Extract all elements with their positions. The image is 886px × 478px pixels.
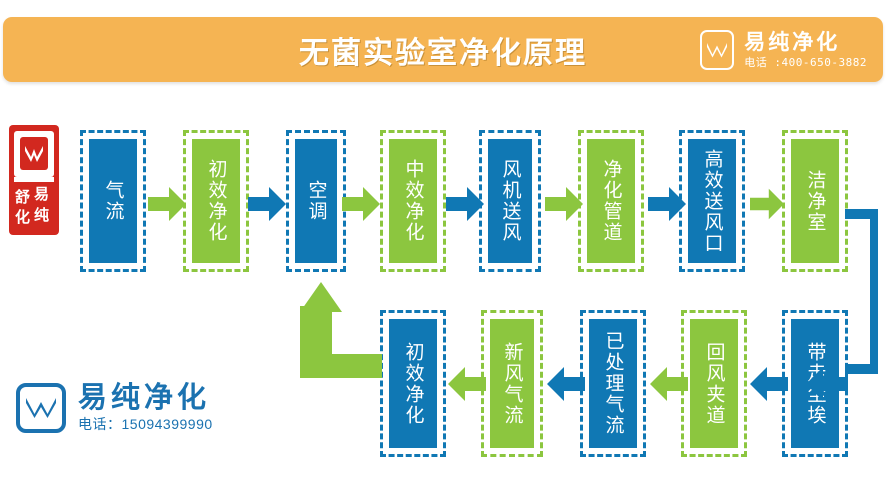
node-label: 空调 [305,180,328,222]
elbow-connector-chuxiaojinghua-to-kongtiao [300,282,382,392]
arrow-huifengjiadao-to-yichuliqiliu [650,367,688,401]
node-label: 净化管道 [600,159,623,243]
svg-text:舒: 舒 [15,188,30,206]
red-seal-stamp-icon: 舒 易 化 纯 [8,124,60,236]
flow-node-chuxiaojinghua-top[interactable]: 初效净化 [183,130,249,272]
elbow-connector-jiejingshi-to-daizouchenai [845,200,886,400]
node-label: 高效送风口 [701,149,724,254]
node-fill: 已处理气流 [589,319,637,448]
svg-text:化: 化 [15,208,30,226]
arrow-qiliu-to-chuxiaojinghua [148,187,186,221]
arrow-xinfengqiliu-to-chuxiaojinghua [448,367,486,401]
node-fill: 初效净化 [389,319,437,448]
node-fill: 中效净化 [389,139,437,263]
node-label: 中效净化 [402,159,425,243]
arrow-daizouchenai-to-huifengjiadao [750,367,788,401]
flow-node-fengjisongfeng[interactable]: 风机送风 [479,130,541,272]
yichun-w-logo-icon [700,30,734,70]
node-label: 初效净化 [205,159,228,243]
flow-node-kongtiao[interactable]: 空调 [286,130,346,272]
footer-brand-phone: 电话：15094399990 [78,415,213,434]
node-fill: 空调 [295,139,337,263]
arrow-gaoxiaosongfengkou-to-jiejingshi [750,187,784,221]
yichun-w-logo-icon [16,383,66,433]
svg-text:易: 易 [34,185,49,203]
flow-node-jinghuaguandao[interactable]: 净化管道 [578,130,644,272]
node-label: 新风气流 [501,342,524,426]
header-banner: 无菌实验室净化原理 易纯净化 电话 :400-650-3882 [3,17,883,82]
node-label: 初效净化 [402,342,425,426]
node-fill: 新风气流 [490,319,534,448]
flow-node-qiliu[interactable]: 气流 [80,130,146,272]
node-fill: 风机送风 [488,139,532,263]
flow-node-xinfengqiliu[interactable]: 新风气流 [481,310,543,457]
flow-node-zhongxiaojinghua[interactable]: 中效净化 [380,130,446,272]
arrow-kongtiao-to-zhongxiaojinghua [342,187,380,221]
flow-node-chuxiaojinghua-bottom[interactable]: 初效净化 [380,310,446,457]
node-fill: 净化管道 [587,139,635,263]
footer-brand-name: 易纯净化 [78,382,213,415]
footer-brand-logo: 易纯净化 电话：15094399990 [16,382,213,434]
arrow-yichuliqiliu-to-xinfengqiliu [547,367,585,401]
flow-node-gaoxiaosongfengkou[interactable]: 高效送风口 [679,130,745,272]
arrow-fengjisongfeng-to-jinghuaguandao [545,187,583,221]
svg-text:纯: 纯 [34,206,49,224]
node-fill: 初效净化 [192,139,240,263]
node-fill: 气流 [89,139,137,263]
arrow-jinghuaguandao-to-gaoxiaosongfengkou [648,187,686,221]
flow-node-yichuliqiliu[interactable]: 已处理气流 [580,310,646,457]
node-fill: 回风夹道 [690,319,738,448]
elbow-connector-arrowhead-daizouchenai [806,367,848,401]
node-fill: 洁净室 [791,139,839,263]
flow-node-jiejingshi[interactable]: 洁净室 [782,130,848,272]
header-brand-name: 易纯净化 [744,31,867,55]
arrow-zhongxiaojinghua-to-fengjisongfeng [446,187,484,221]
node-label: 回风夹道 [703,342,726,426]
header-brand-logo: 易纯净化 电话 :400-650-3882 [700,26,867,74]
node-fill: 高效送风口 [688,139,736,263]
node-label: 洁净室 [804,170,827,233]
flow-node-huifengjiadao[interactable]: 回风夹道 [681,310,747,457]
header-brand-phone: 电话 :400-650-3882 [744,55,867,70]
arrow-chuxiaojinghua-to-kongtiao [248,187,286,221]
node-label: 气流 [102,180,125,222]
node-label: 已处理气流 [602,331,625,436]
node-label: 风机送风 [499,159,522,243]
